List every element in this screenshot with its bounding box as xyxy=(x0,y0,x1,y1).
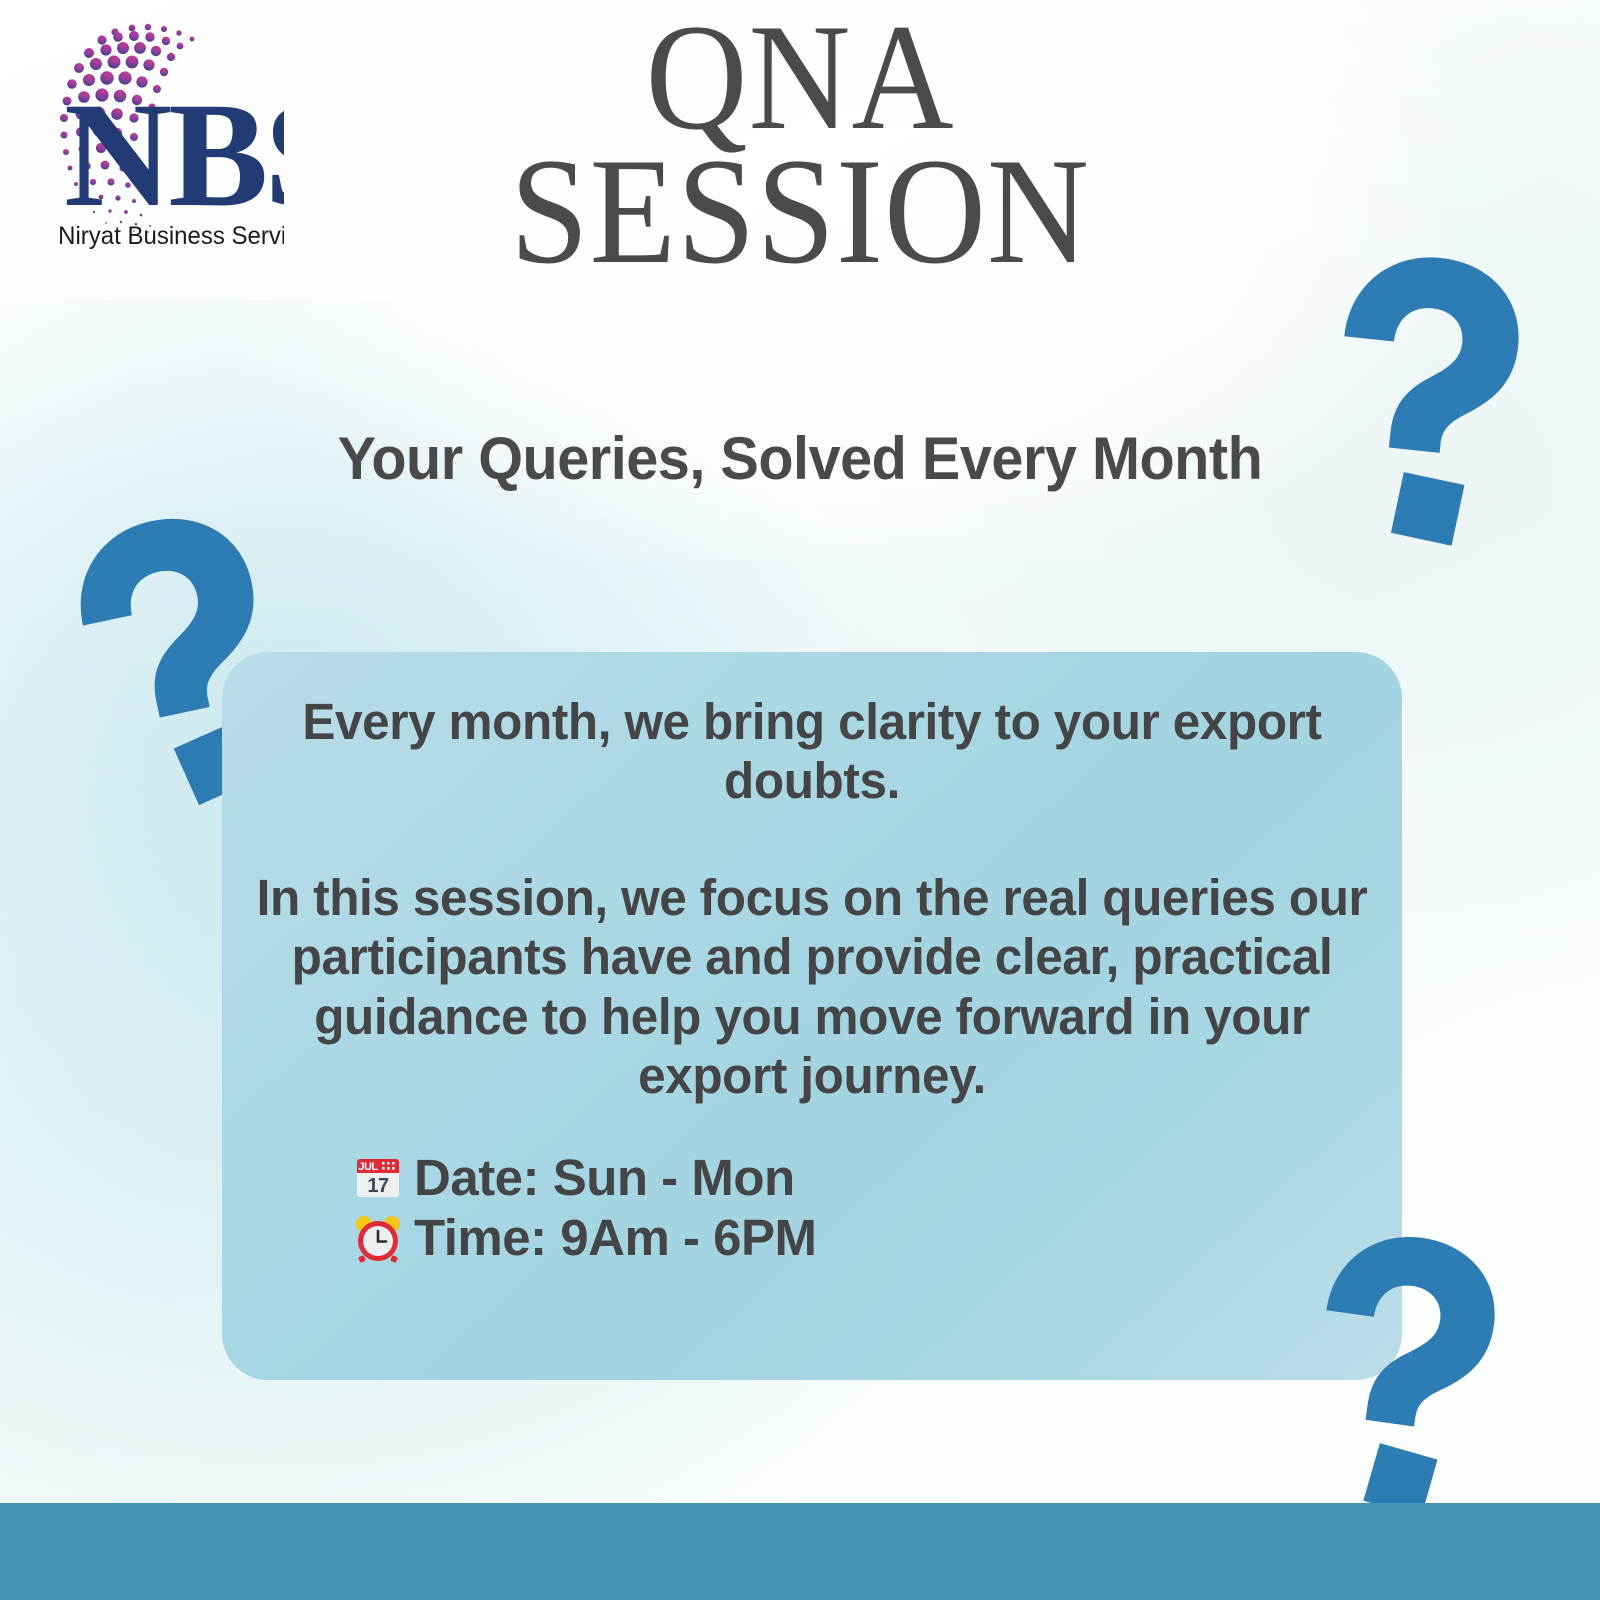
poster-canvas: NBS Niryat Business Services QNA SESSION… xyxy=(0,0,1600,1600)
card-body-text: Every month, we bring clarity to your ex… xyxy=(240,692,1385,1105)
detail-row-time: Time: 9Am - 6PM xyxy=(352,1208,817,1268)
event-details-list: JUL 17 Date: Sun - Mon xyxy=(352,1148,817,1268)
detail-row-date: JUL 17 Date: Sun - Mon xyxy=(352,1148,817,1208)
question-mark-bottom-right xyxy=(1285,1230,1500,1520)
calendar-day-label: 17 xyxy=(367,1175,389,1197)
calendar-emoji-icon: JUL 17 xyxy=(352,1152,404,1204)
page-title: QNA SESSION xyxy=(300,8,1300,282)
detail-label-date: Date: Sun - Mon xyxy=(414,1148,795,1208)
card-paragraph-1: Every month, we bring clarity to your ex… xyxy=(240,692,1385,810)
question-mark-top-right xyxy=(1300,250,1530,550)
footer-bar xyxy=(0,1503,1600,1600)
paragraph-spacer xyxy=(240,810,1385,868)
logo-acronym: NBS xyxy=(64,72,284,238)
logo-company-name: Niryat Business Services xyxy=(58,223,284,251)
detail-label-time: Time: 9Am - 6PM xyxy=(414,1208,817,1268)
brand-logo: NBS Niryat Business Services xyxy=(14,10,284,260)
card-paragraph-2: In this session, we focus on the real qu… xyxy=(240,868,1385,1105)
session-details-card: Every month, we bring clarity to your ex… xyxy=(222,652,1402,1380)
calendar-month-label: JUL xyxy=(358,1161,378,1173)
alarm-clock-emoji-icon xyxy=(352,1212,404,1264)
title-line-2: SESSION xyxy=(335,142,1265,282)
